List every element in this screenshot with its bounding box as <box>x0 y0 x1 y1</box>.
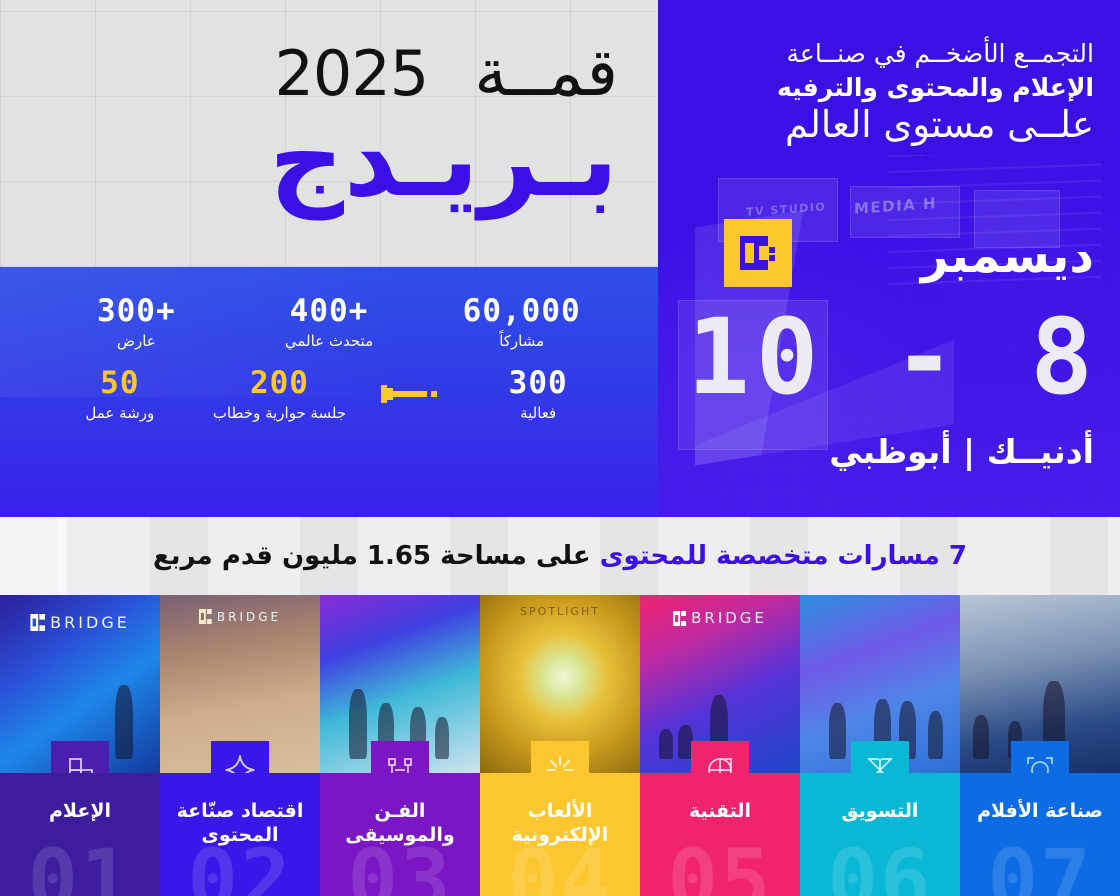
headline-line-2: الإعلام والمحتوى والترفيه <box>684 72 1094 104</box>
track-image <box>800 595 960 773</box>
track-footer: 07 صناعة الأفلام <box>960 773 1120 896</box>
track-footer: 03 الفـن والموسيقى <box>320 773 480 896</box>
event-month: ديسمبر <box>921 228 1094 284</box>
stat-value: 300+ <box>40 293 233 330</box>
title-bridge-word: بـريـدج <box>40 105 618 214</box>
event-venue: أدنيــك | أبوظبي <box>684 432 1094 472</box>
poster-root: TV STUDIO MEDIA H التجمــع الأضخــم في ص… <box>0 0 1120 896</box>
banner-accent-text: 7 مسارات متخصصة للمحتوى <box>600 541 967 571</box>
stat-label: مشاركاً <box>425 332 618 352</box>
stat-value: 60,000 <box>425 293 618 330</box>
content-tracks-banner: 7 مسارات متخصصة للمحتوى على مساحة 1.65 م… <box>0 517 1120 595</box>
bridge-watermark-text: BRIDGE <box>217 610 281 624</box>
track-label: الفـن والموسيقى <box>320 773 480 848</box>
track-image: BRIDGE <box>640 595 800 773</box>
headline-line-3: علــى مستوى العالم <box>684 105 1094 146</box>
stat-value: 300 <box>458 365 618 402</box>
banner-plain-text: على مساحة 1.65 مليون قدم مربع <box>153 541 591 571</box>
pinwheel-marketing-icon <box>851 741 909 773</box>
track-cards: 07 صناعة الأفلام 06 التسويق <box>0 595 1120 896</box>
event-dates: 10 - 8 <box>686 305 1100 409</box>
track-label: اقتصاد صنّاعة المحتوى <box>160 773 320 848</box>
nodes-art-icon <box>371 741 429 773</box>
sparkle-star-icon <box>211 741 269 773</box>
track-footer: 05 التقنية <box>640 773 800 896</box>
stat-label: فعالية <box>458 404 618 424</box>
stat-events: 300 فعالية <box>458 365 618 423</box>
top-section: TV STUDIO MEDIA H التجمــع الأضخــم في ص… <box>0 0 1120 517</box>
track-image: BRIDGE <box>0 595 160 773</box>
stat-value: 400+ <box>233 293 426 330</box>
track-card-film[interactable]: 07 صناعة الأفلام <box>960 595 1120 896</box>
stat-workshops: 50 ورشة عمل <box>40 365 200 423</box>
stat-label: جلسة حوارية وخطاب <box>200 404 360 424</box>
track-label: الألعاب الإلكترونية <box>480 773 640 848</box>
track-number: 01 <box>27 838 132 896</box>
arrow-left-icon <box>359 365 458 423</box>
track-image <box>320 595 480 773</box>
stat-label: عارض <box>40 332 233 352</box>
track-image: BRIDGE <box>160 595 320 773</box>
track-image: SPOTLIGHT <box>480 595 640 773</box>
track-footer: 01 الإعلام <box>0 773 160 896</box>
track-label: الإعلام <box>0 773 160 823</box>
blocks-media-icon <box>51 741 109 773</box>
track-label: صناعة الأفلام <box>960 773 1120 823</box>
stat-participants: 60,000 مشاركاً <box>425 293 618 351</box>
stats-row-primary: 60,000 مشاركاً 400+ متحدث عالمي 300+ عار… <box>0 267 658 351</box>
track-card-gaming[interactable]: SPOTLIGHT 04 الألعاب الإلكترونية <box>480 595 640 896</box>
hero-panel: TV STUDIO MEDIA H التجمــع الأضخــم في ص… <box>658 0 1120 517</box>
bridge-b-logo-icon <box>724 219 792 287</box>
stat-label: ورشة عمل <box>40 404 200 424</box>
track-footer: 06 التسويق <box>800 773 960 896</box>
track-card-marketing[interactable]: 06 التسويق <box>800 595 960 896</box>
stat-global-speakers: 400+ متحدث عالمي <box>233 293 426 351</box>
stat-value: 200 <box>200 365 360 402</box>
film-viewfinder-icon <box>1011 741 1069 773</box>
track-number: 06 <box>827 838 932 896</box>
stats-row-secondary: 300 فعالية 200 جلسة <box>0 351 658 423</box>
track-image <box>960 595 1120 773</box>
starburst-gaming-icon <box>531 741 589 773</box>
spotlight-watermark-text: SPOTLIGHT <box>520 605 600 618</box>
stat-label: متحدث عالمي <box>233 332 426 352</box>
track-card-media[interactable]: BRIDGE 01 الإعلام <box>0 595 160 896</box>
track-card-art-music[interactable]: 03 الفـن والموسيقى <box>320 595 480 896</box>
title-panel: قمــة 2025 بـريـدج <box>0 0 658 267</box>
track-label: التقنية <box>640 773 800 823</box>
stat-sessions: 200 جلسة حوارية وخطاب <box>200 365 360 423</box>
track-footer: 04 الألعاب الإلكترونية <box>480 773 640 896</box>
banner-text: 7 مسارات متخصصة للمحتوى على مساحة 1.65 م… <box>153 541 967 571</box>
stat-value: 50 <box>40 365 200 402</box>
quadrant-tech-icon <box>691 741 749 773</box>
track-card-content-economy[interactable]: BRIDGE 02 اقتصاد صنّاعة المحتوى <box>160 595 320 896</box>
hero-headline: التجمــع الأضخــم في صنــاعة الإعلام وال… <box>684 38 1094 146</box>
track-number: 05 <box>667 838 772 896</box>
track-number: 07 <box>987 838 1092 896</box>
track-label: التسويق <box>800 773 960 823</box>
stat-exhibitors: 300+ عارض <box>40 293 233 351</box>
track-card-technology[interactable]: BRIDGE 05 التقنية <box>640 595 800 896</box>
bridge-watermark-logo: BRIDGE <box>199 609 281 624</box>
track-footer: 02 اقتصاد صنّاعة المحتوى <box>160 773 320 896</box>
right-column: قمــة 2025 بـريـدج 60,000 مشاركاً 400+ م… <box>0 0 658 517</box>
statistics-panel: 60,000 مشاركاً 400+ متحدث عالمي 300+ عار… <box>0 267 658 517</box>
headline-line-1: التجمــع الأضخــم في صنــاعة <box>684 38 1094 70</box>
